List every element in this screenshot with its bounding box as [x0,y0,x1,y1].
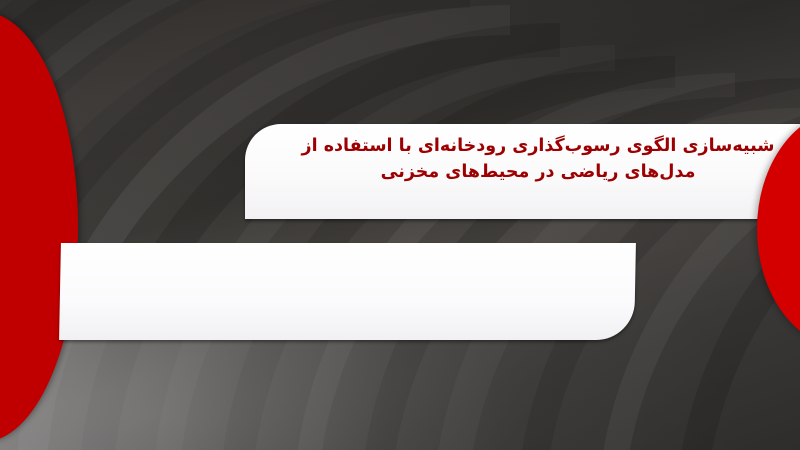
title-line-2: مدل‌های ریاضی در محیط‌های مخزنی [293,159,783,185]
title-slide: شبیه‌سازی الگوی رسوب‌گذاری رودخانه‌ای با… [0,0,800,450]
subtitle-text [59,243,636,340]
title-line-1: شبیه‌سازی الگوی رسوب‌گذاری رودخانه‌ای با… [293,133,783,159]
subtitle-placeholder-box[interactable] [59,243,636,340]
background-arc-pattern [0,0,800,450]
page-title: شبیه‌سازی الگوی رسوب‌گذاری رودخانه‌ای با… [293,133,783,185]
title-placeholder-box[interactable]: شبیه‌سازی الگوی رسوب‌گذاری رودخانه‌ای با… [245,124,800,219]
